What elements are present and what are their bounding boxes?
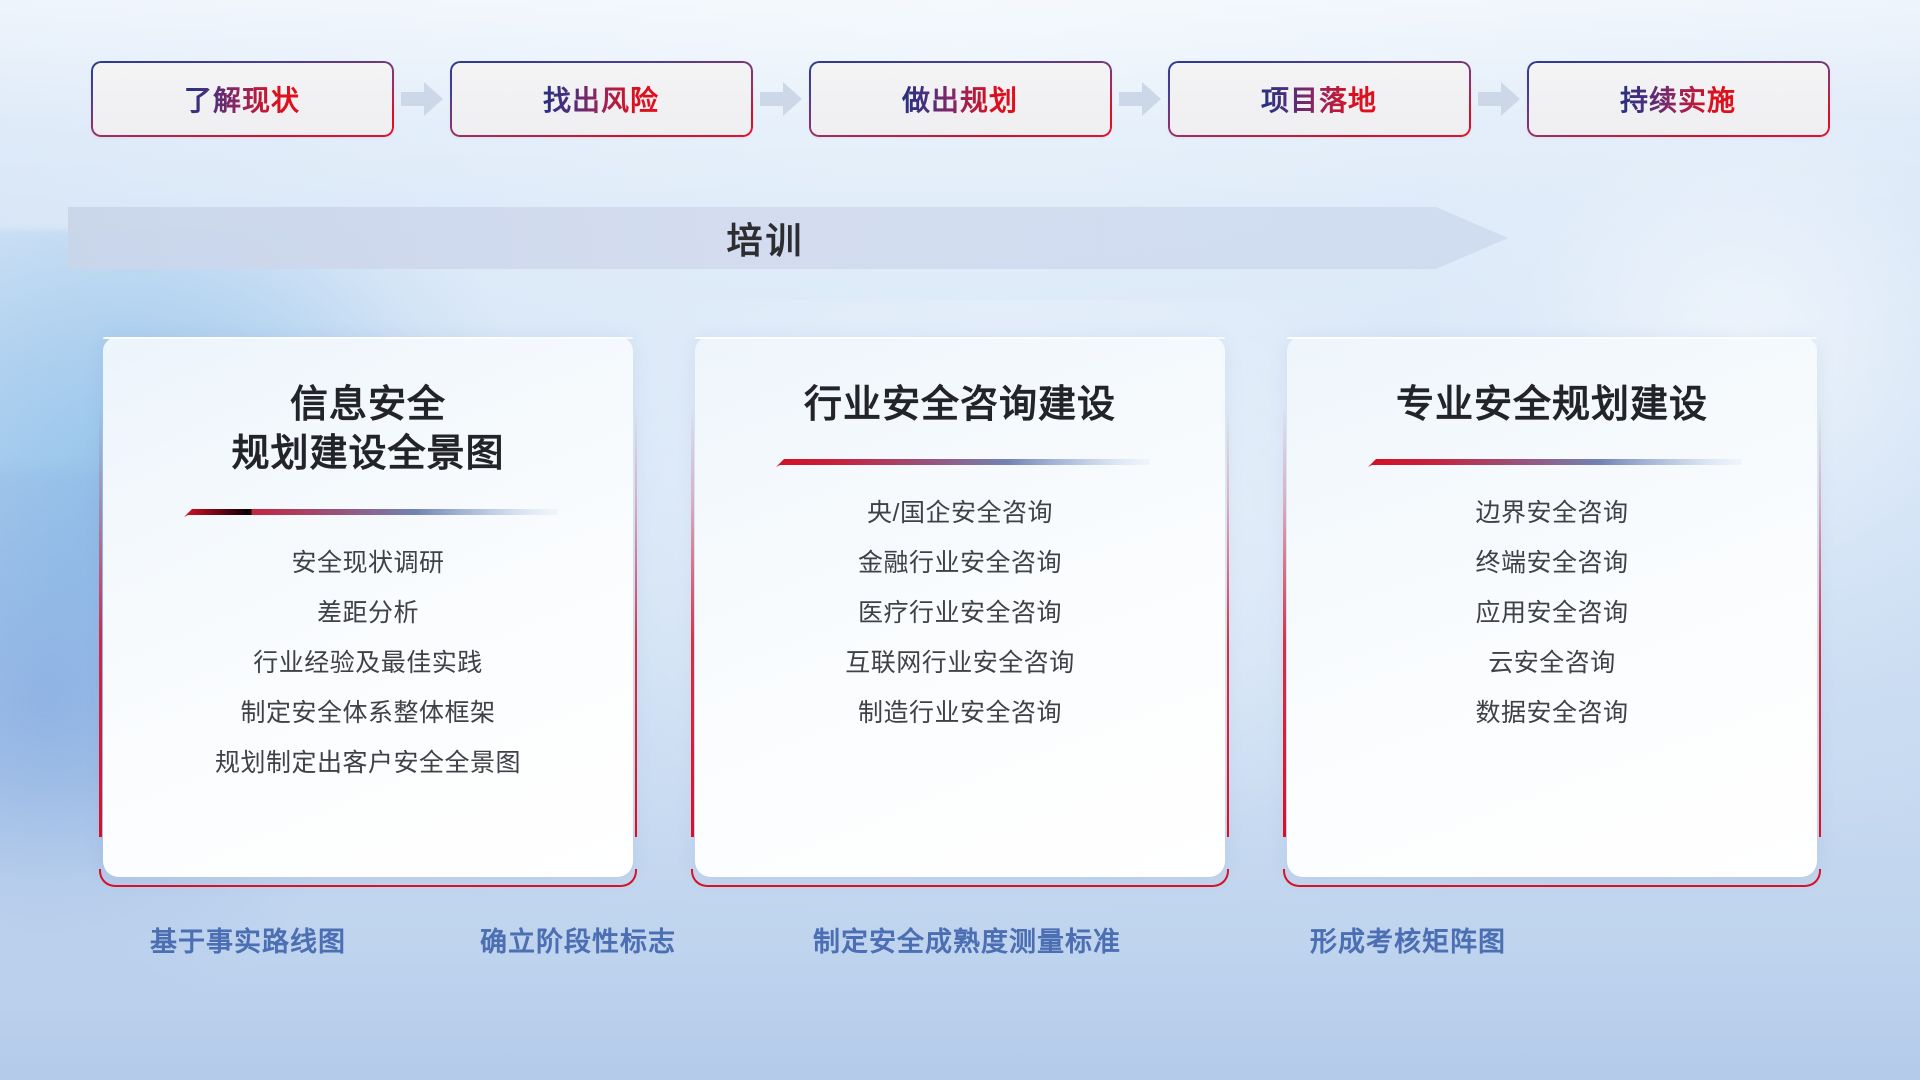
service-card-3[interactable]: 专业安全规划建设 边界安全咨询 终端安全咨询 应用安 bbox=[1287, 337, 1817, 877]
training-banner: 培训 bbox=[68, 207, 1508, 269]
service-card-group: 信息安全 规划建设全景图 安全现状调研 bbox=[0, 337, 1920, 877]
process-step-2[interactable]: 找出风险 bbox=[450, 61, 753, 137]
process-step-label: 持续实施 bbox=[1620, 79, 1736, 119]
card-list-item: 云安全咨询 bbox=[1488, 642, 1616, 684]
card-frame-left bbox=[1283, 407, 1286, 837]
card-frame-left bbox=[99, 407, 102, 837]
card-list-item: 规划制定出客户安全全景图 bbox=[215, 742, 521, 784]
process-step-4[interactable]: 项目落地 bbox=[1168, 61, 1471, 137]
card-list-item: 互联网行业安全咨询 bbox=[845, 642, 1075, 684]
training-banner-label: 培训 bbox=[68, 207, 1463, 269]
caption-1: 基于事实路线图 bbox=[150, 920, 346, 959]
process-step-label: 找出风险 bbox=[543, 79, 659, 119]
service-card-1[interactable]: 信息安全 规划建设全景图 安全现状调研 bbox=[103, 337, 633, 877]
caption-3: 制定安全成熟度测量标准 bbox=[813, 920, 1121, 959]
card-title: 信息安全 规划建设全景图 bbox=[231, 381, 504, 480]
gradient-divider-icon bbox=[178, 506, 558, 520]
gradient-divider-icon bbox=[770, 456, 1150, 470]
caption-2: 确立阶段性标志 bbox=[480, 920, 676, 959]
card-list-item: 数据安全咨询 bbox=[1475, 692, 1628, 734]
card-list-item: 制定安全体系整体框架 bbox=[240, 692, 495, 734]
card-frame-left bbox=[691, 407, 694, 837]
card-list-item: 金融行业安全咨询 bbox=[858, 542, 1062, 584]
process-step-5[interactable]: 持续实施 bbox=[1527, 61, 1830, 137]
card-frame-right bbox=[635, 407, 638, 837]
card-list-item: 差距分析 bbox=[317, 592, 419, 634]
card-list-item: 行业经验及最佳实践 bbox=[253, 642, 483, 684]
process-step-label: 做出规划 bbox=[902, 79, 1018, 119]
card-title: 行业安全咨询建设 bbox=[804, 381, 1116, 430]
card-list-item: 边界安全咨询 bbox=[1475, 492, 1628, 534]
card-item-list: 央/国企安全咨询 金融行业安全咨询 医疗行业安全咨询 互联网行业安全咨询 制造行… bbox=[695, 492, 1225, 734]
card-frame-right bbox=[1819, 407, 1822, 837]
process-step-3[interactable]: 做出规划 bbox=[809, 61, 1112, 137]
service-card-2[interactable]: 行业安全咨询建设 央/国企安全咨询 金融行业安全咨询 bbox=[695, 337, 1225, 877]
step-arrow-icon-1 bbox=[394, 61, 450, 137]
step-arrow-icon-4 bbox=[1471, 61, 1527, 137]
card-list-item: 安全现状调研 bbox=[291, 542, 444, 584]
card-item-list: 边界安全咨询 终端安全咨询 应用安全咨询 云安全咨询 数据安全咨询 bbox=[1287, 492, 1817, 734]
card-list-item: 制造行业安全咨询 bbox=[858, 692, 1062, 734]
gradient-divider-icon bbox=[1362, 456, 1742, 470]
card-list-item: 央/国企安全咨询 bbox=[867, 492, 1053, 534]
process-step-label: 项目落地 bbox=[1261, 79, 1377, 119]
card-list-item: 医疗行业安全咨询 bbox=[858, 592, 1062, 634]
caption-4: 形成考核矩阵图 bbox=[1310, 920, 1506, 959]
caption-row: 基于事实路线图 确立阶段性标志 制定安全成熟度测量标准 形成考核矩阵图 bbox=[0, 920, 1920, 970]
card-list-item: 应用安全咨询 bbox=[1475, 592, 1628, 634]
step-arrow-icon-2 bbox=[753, 61, 809, 137]
process-step-1[interactable]: 了解现状 bbox=[91, 61, 394, 137]
card-title: 专业安全规划建设 bbox=[1396, 381, 1708, 430]
step-arrow-icon-3 bbox=[1112, 61, 1168, 137]
process-step-label: 了解现状 bbox=[184, 79, 300, 119]
process-step-row: 了解现状 找出风险 做出规划 项目落地 持续实施 bbox=[0, 60, 1920, 138]
card-frame-right bbox=[1227, 407, 1230, 837]
card-list-item: 终端安全咨询 bbox=[1475, 542, 1628, 584]
card-item-list: 安全现状调研 差距分析 行业经验及最佳实践 制定安全体系整体框架 规划制定出客户… bbox=[103, 542, 633, 784]
